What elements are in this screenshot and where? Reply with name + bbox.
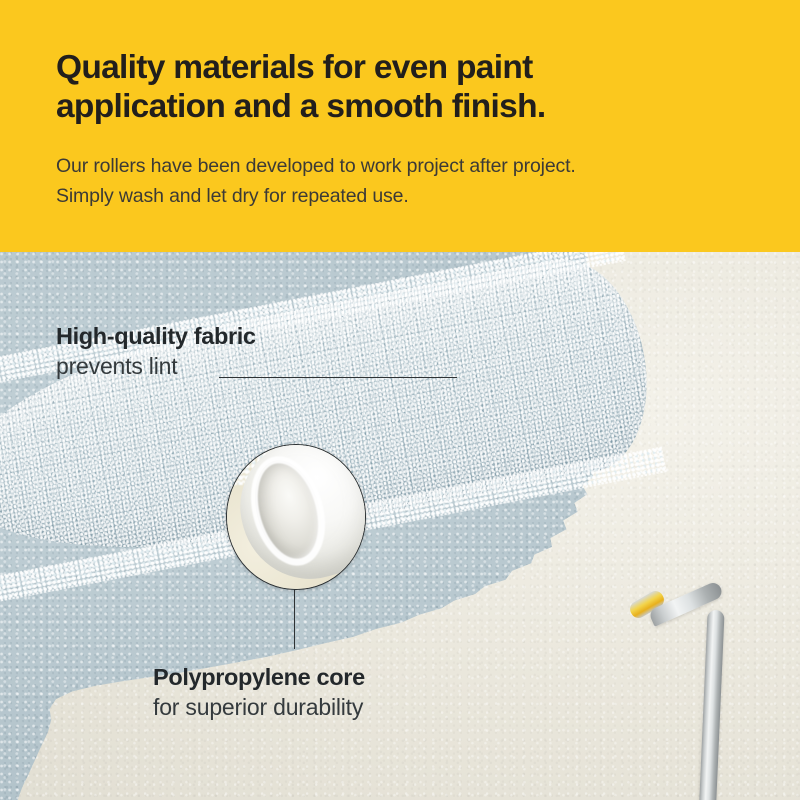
callout-fabric-subtitle: prevents lint (56, 351, 256, 381)
header-band: Quality materials for even paint applica… (0, 0, 800, 252)
callout-polypropylene-core: Polypropylene core for superior durabili… (153, 662, 365, 722)
callout-high-quality-fabric: High-quality fabric prevents lint (56, 321, 256, 381)
leader-line-core (294, 589, 295, 649)
core-detail-inset (226, 444, 366, 590)
promo-graphic: High-quality fabric prevents lint Polypr… (0, 0, 800, 800)
page-title: Quality materials for even paint applica… (56, 48, 756, 126)
callout-fabric-title: High-quality fabric (56, 321, 256, 351)
callout-core-title: Polypropylene core (153, 662, 365, 692)
page-subtitle: Our rollers have been developed to work … (56, 151, 766, 211)
callout-core-subtitle: for superior durability (153, 692, 365, 722)
